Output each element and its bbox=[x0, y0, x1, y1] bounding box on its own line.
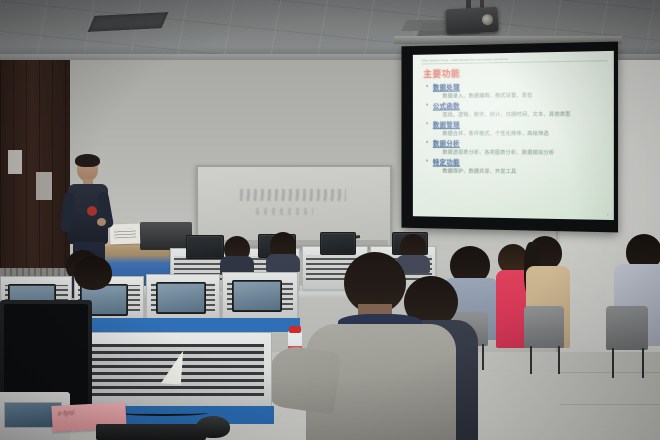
foreground-paper-sheet bbox=[161, 349, 183, 384]
chair-leg bbox=[530, 346, 532, 374]
student-monitor bbox=[232, 280, 282, 312]
monitor-screen bbox=[158, 284, 204, 312]
slide-section: 特定功能 数据保护、数据共享、开发工具 bbox=[424, 157, 608, 176]
chair-leg bbox=[558, 346, 560, 374]
presenter-shirt-logo bbox=[87, 206, 97, 216]
keyboard[interactable] bbox=[96, 424, 206, 440]
ceiling-projector-icon bbox=[445, 7, 498, 35]
slide-page-number: 6 bbox=[607, 214, 609, 217]
presenter-hand bbox=[97, 218, 106, 226]
floor-tile-line bbox=[560, 404, 660, 405]
student-back-row bbox=[268, 232, 298, 268]
floor-tile-line bbox=[560, 372, 660, 373]
slide-section-heading: 数据分析 bbox=[424, 138, 608, 148]
whiteboard-writing-secondary bbox=[256, 208, 314, 216]
foreground-person bbox=[300, 252, 460, 440]
slide-section-heading: 数据处理 bbox=[424, 80, 608, 92]
classroom-scene: Office Solution Group — Data Management … bbox=[0, 0, 660, 440]
chair-leg bbox=[642, 348, 644, 378]
slide-section: 数据分析 数据透视表分析、各类图表分析、数据模拟分析 bbox=[424, 138, 608, 156]
chair-leg bbox=[482, 344, 484, 370]
projected-slide: Office Solution Group — Data Management … bbox=[413, 51, 614, 220]
student-monitor bbox=[156, 282, 206, 314]
desk-cable bbox=[118, 410, 208, 416]
slide-section-heading: 公式函数 bbox=[424, 99, 608, 110]
monitor-screen bbox=[188, 237, 222, 257]
slide-section: 公式函数 查找、逻辑、数学、统计、日期时间、文本、其他类型 bbox=[424, 99, 608, 118]
presenter-hair bbox=[75, 154, 100, 167]
student-mid-row bbox=[74, 256, 114, 296]
slide-section: 数据管理 数据合并、条件格式、个性化排序、高级筛选 bbox=[424, 119, 608, 137]
slide-section: 数据处理 数据录入、数据编辑、格式设置、定位 bbox=[424, 80, 608, 100]
projector-lens-icon bbox=[482, 14, 494, 26]
projection-screen: Office Solution Group — Data Management … bbox=[402, 42, 619, 233]
student-torso bbox=[266, 254, 300, 272]
wall-notice-paper bbox=[8, 150, 22, 174]
slide-section-detail: 数据保护、数据共享、开发工具 bbox=[424, 167, 608, 175]
pink-desk-label-text: x-tysl bbox=[58, 410, 75, 418]
student-monitor bbox=[186, 235, 224, 259]
student-back-row bbox=[222, 236, 252, 270]
whiteboard-writing bbox=[240, 189, 346, 201]
slide-section-heading: 数据管理 bbox=[424, 119, 608, 130]
slide-body: 数据处理 数据录入、数据编辑、格式设置、定位 公式函数 查找、逻辑、数学、统计、… bbox=[424, 80, 608, 177]
slide-section-detail: 数据录入、数据编辑、格式设置、定位 bbox=[424, 90, 608, 99]
slide-title: 主要功能 bbox=[423, 67, 460, 80]
slide-section-detail: 数据透视表分析、各类图表分析、数据模拟分析 bbox=[424, 148, 608, 156]
chair bbox=[606, 306, 648, 350]
slide-section-heading: 特定功能 bbox=[424, 157, 608, 168]
student-head bbox=[74, 256, 112, 290]
slide-section-detail: 查找、逻辑、数学、统计、日期时间、文本、其他类型 bbox=[424, 110, 608, 118]
monitor-screen bbox=[322, 234, 354, 253]
chair bbox=[524, 306, 564, 348]
slide-header-text: Office Solution Group — Data Management … bbox=[421, 56, 607, 64]
monitor-screen bbox=[234, 282, 280, 310]
wall-notice-paper-secondary bbox=[36, 172, 52, 200]
computer-mouse[interactable] bbox=[196, 416, 230, 438]
podium-monitor bbox=[140, 222, 192, 250]
slide-section-detail: 数据合并、条件格式、个性化排序、高级筛选 bbox=[424, 129, 608, 136]
chair-leg bbox=[612, 348, 614, 378]
